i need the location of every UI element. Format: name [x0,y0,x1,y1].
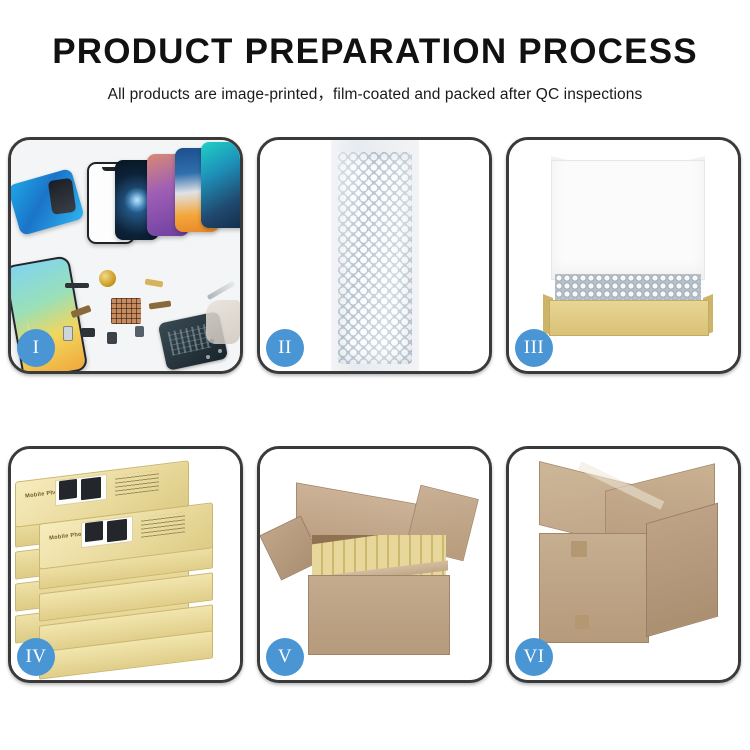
battery-part-icon [135,326,144,337]
step-panel-4: Mobile Phone Spare Parts Mobile Phone Sp… [8,446,243,683]
hand-icon [206,300,240,344]
screw-icon [210,339,214,343]
step-panel-1: I [8,137,243,374]
phone-screen-graphic [59,479,77,500]
wrap-gloss [338,152,412,364]
step-badge-5: V [266,638,304,676]
step-panel-3: III [506,137,741,374]
speaker-part-icon [107,332,117,344]
carton-side-face [646,503,718,638]
sim-tray-icon [63,326,73,341]
step-panel-2: II [257,137,492,374]
step-panel-5: V [257,446,492,683]
flex-cable-icon [65,283,89,288]
step-badge-2: II [266,329,304,367]
step-badge-1: I [17,329,55,367]
phone-screen-graphic [85,521,103,542]
kraft-tray-icon [549,300,709,336]
product-preparation-infographic: PRODUCT PREPARATION PROCESS All products… [0,0,750,750]
phone-screen-graphic [81,477,101,500]
teal-gradient-phone-icon [201,142,240,228]
copper-coil-icon [99,270,116,287]
page-title: PRODUCT PREPARATION PROCESS [0,34,750,69]
step-badge-6: VI [515,638,553,676]
page-subtitle: All products are image-printed，film-coat… [0,82,750,104]
step-badge-3: III [515,329,553,367]
process-steps-grid: I II III [8,137,742,683]
step-panel-6: VI [506,446,741,683]
screw-icon [218,349,222,353]
carton-front-panel [308,575,450,655]
step-badge-4: IV [17,638,55,676]
phone-screen-graphic [107,519,127,542]
tape-tab [575,615,589,629]
tape-tab [571,541,587,557]
camera-module-icon [81,328,95,337]
carton-front-face [539,533,649,643]
ic-chip-array-icon [111,298,141,324]
header: PRODUCT PREPARATION PROCESS All products… [0,0,750,104]
screw-icon [206,355,210,359]
box-lid-icon [551,160,705,280]
